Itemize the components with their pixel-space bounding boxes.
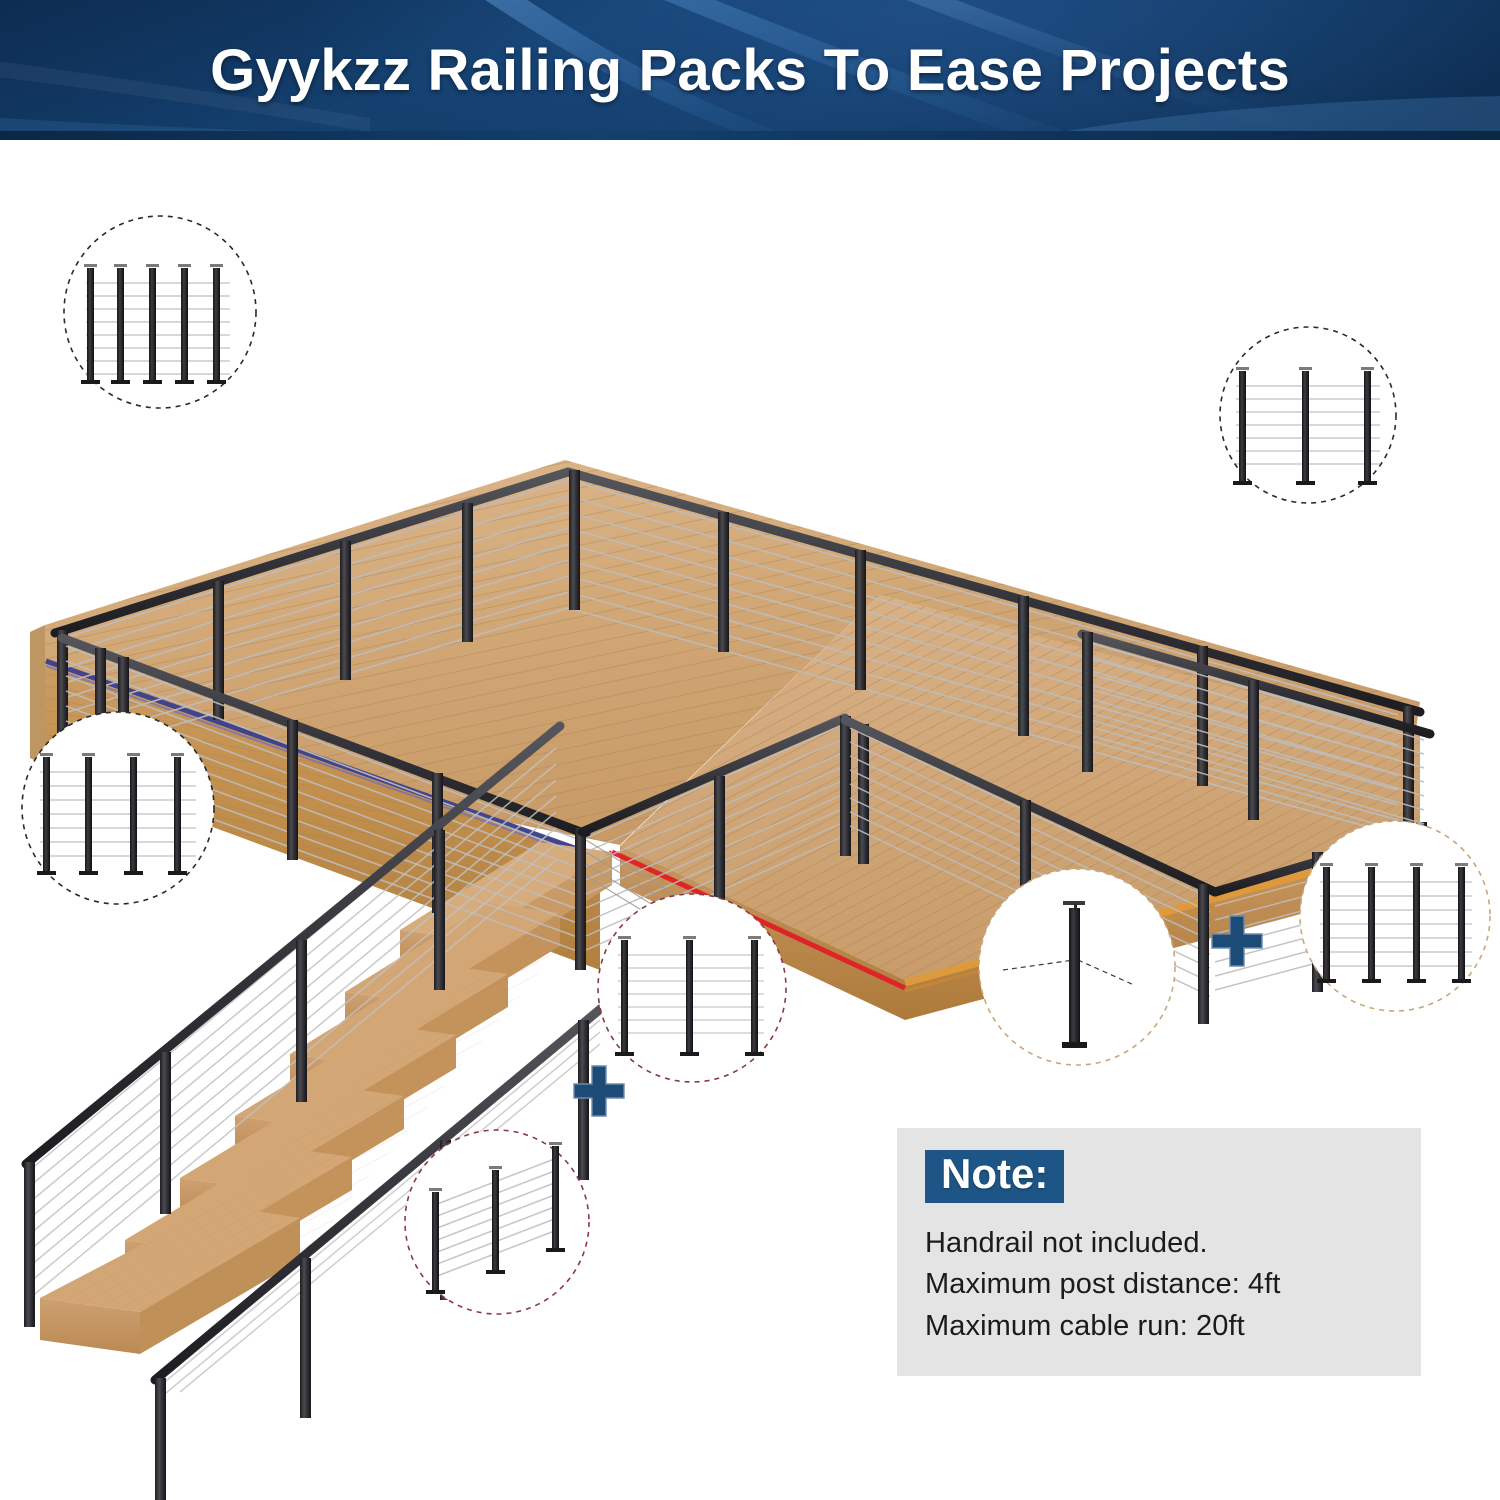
- note-badge: Note:: [925, 1150, 1064, 1203]
- product-infographic: Gyykzz Railing Packs To Ease Projects: [0, 0, 1500, 1500]
- note-line-1: Handrail not included.: [925, 1223, 1421, 1264]
- plus-icon-left: [570, 1062, 628, 1120]
- note-line-2: Maximum post distance: 4ft: [925, 1264, 1421, 1305]
- header-banner: Gyykzz Railing Packs To Ease Projects: [0, 0, 1500, 140]
- plus-icon-right: [1208, 912, 1266, 970]
- note-lines: Handrail not included. Maximum post dist…: [925, 1223, 1421, 1347]
- note-box: Note: Handrail not included. Maximum pos…: [897, 1128, 1421, 1376]
- note-line-3: Maximum cable run: 20ft: [925, 1306, 1421, 1347]
- banner-title: Gyykzz Railing Packs To Ease Projects: [0, 0, 1500, 140]
